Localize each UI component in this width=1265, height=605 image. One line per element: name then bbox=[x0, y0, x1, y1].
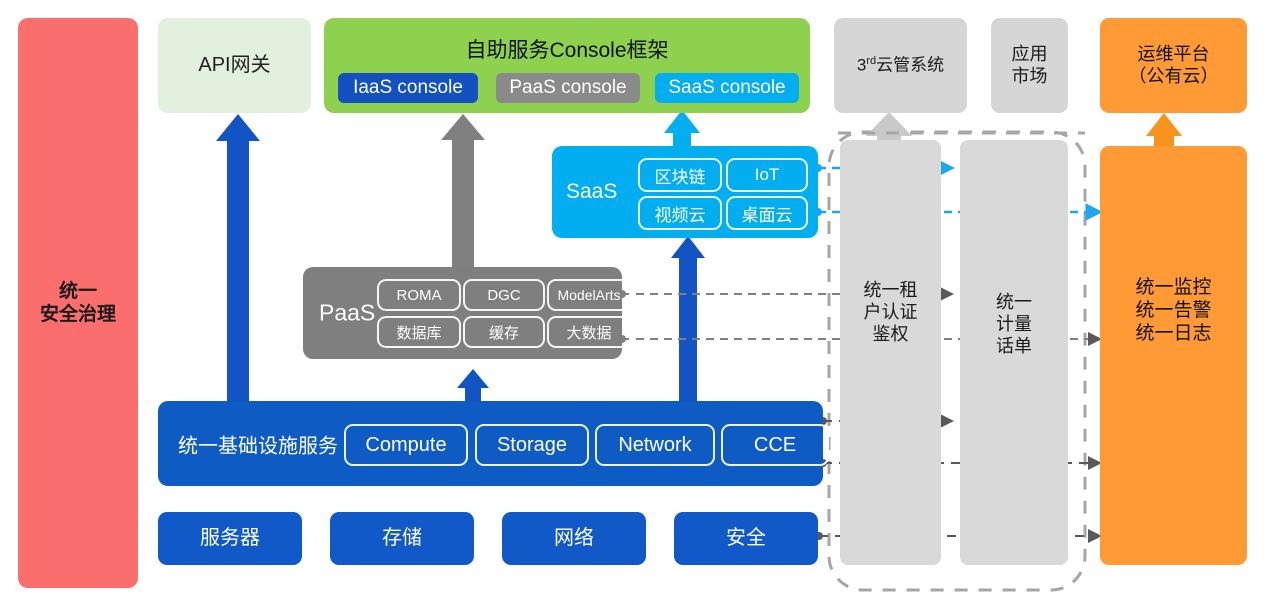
third-party-superscript: rd bbox=[866, 55, 876, 67]
third-party-label: 3rd云管系统 bbox=[857, 55, 944, 76]
saas-item-blockchain[interactable]: 区块链 bbox=[638, 158, 722, 192]
paas-item-cache[interactable]: 缓存 bbox=[463, 316, 545, 348]
infra-item-cce[interactable]: CCE bbox=[721, 424, 829, 466]
paas-item-roma[interactable]: ROMA bbox=[377, 279, 461, 311]
infra-item-storage[interactable]: Storage bbox=[475, 424, 589, 466]
saas-block-label: SaaS bbox=[566, 180, 617, 204]
resource-box-security[interactable]: 安全 bbox=[674, 512, 818, 565]
saas-console-chip[interactable]: SaaS console bbox=[655, 73, 799, 103]
self-service-console-frame: 自助服务Console框架 IaaS console PaaS console … bbox=[324, 18, 810, 113]
iaas-console-chip[interactable]: IaaS console bbox=[338, 73, 478, 103]
shared-column-tenant-auth: 统一租 户认证 鉴权 bbox=[840, 140, 941, 565]
paas-block: PaaS ROMA DGC ModelArts 数据库 缓存 大数据 bbox=[303, 267, 622, 359]
ops-platform-public-cloud-box: 运维平台 （公有云） bbox=[1100, 18, 1247, 113]
shared-column-metering-billing: 统一 计量 话单 bbox=[960, 140, 1068, 565]
unified-security-governance-panel: 统一 安全治理 bbox=[18, 18, 138, 588]
infra-item-compute[interactable]: Compute bbox=[344, 424, 468, 466]
ops-platform-panel: 统一监控 统一告警 统一日志 bbox=[1100, 146, 1247, 565]
resource-box-network[interactable]: 网络 bbox=[502, 512, 646, 565]
third-party-suffix: 云管系统 bbox=[876, 55, 944, 74]
paas-item-modelarts[interactable]: ModelArts bbox=[547, 279, 631, 311]
paas-block-label: PaaS bbox=[319, 300, 375, 327]
saas-block: SaaS 区块链 IoT 视频云 桌面云 bbox=[552, 146, 818, 238]
api-gateway-box: API网关 bbox=[158, 18, 311, 113]
saas-item-iot[interactable]: IoT bbox=[726, 158, 808, 192]
saas-item-desktop-cloud[interactable]: 桌面云 bbox=[726, 196, 808, 230]
unified-infrastructure-service-bar: 统一基础设施服务 Compute Storage Network CCE bbox=[158, 401, 823, 486]
infra-bar-label: 统一基础设施服务 bbox=[178, 429, 338, 458]
third-party-cloud-mgmt-box: 3rd云管系统 bbox=[834, 18, 967, 113]
infra-item-network[interactable]: Network bbox=[595, 424, 715, 466]
paas-item-database[interactable]: 数据库 bbox=[377, 316, 461, 348]
architecture-diagram: 统一 安全治理 API网关 自助服务Console框架 IaaS console… bbox=[0, 0, 1265, 605]
resource-box-server[interactable]: 服务器 bbox=[158, 512, 302, 565]
paas-item-dgc[interactable]: DGC bbox=[463, 279, 545, 311]
paas-console-chip[interactable]: PaaS console bbox=[496, 73, 640, 103]
app-market-box: 应用 市场 bbox=[991, 18, 1068, 113]
paas-item-bigdata[interactable]: 大数据 bbox=[547, 316, 631, 348]
resource-box-storage[interactable]: 存储 bbox=[330, 512, 474, 565]
console-frame-title: 自助服务Console框架 bbox=[324, 34, 810, 64]
saas-item-video-cloud[interactable]: 视频云 bbox=[638, 196, 722, 230]
